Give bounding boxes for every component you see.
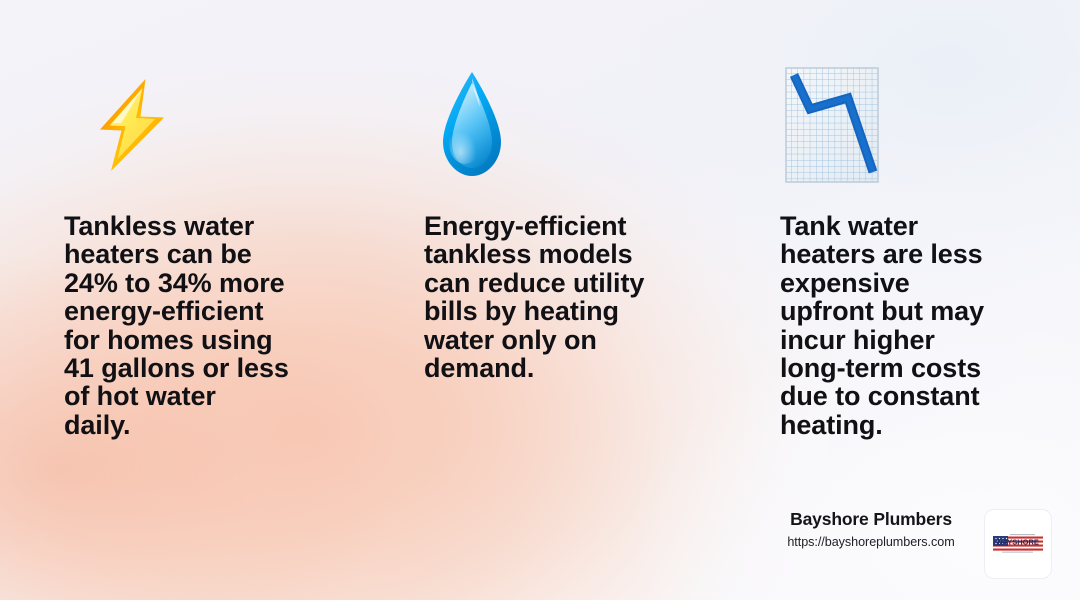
column-2-text: Energy-efficient tankless models can red… xyxy=(424,212,674,382)
chart-decreasing-icon xyxy=(785,67,879,183)
high-voltage-icon xyxy=(88,77,176,173)
column-3-text: Tank water heaters are less expensive up… xyxy=(780,212,1025,439)
logo-wordmark: BAYSHORE xyxy=(997,538,1039,547)
high-voltage-icon-slot xyxy=(88,62,176,187)
bayshore-flag-logo-icon: BAYSHORE xyxy=(993,531,1043,557)
brand-url[interactable]: https://bayshoreplumbers.com xyxy=(770,534,972,550)
droplet-icon xyxy=(438,69,506,181)
footer-text-block: Bayshore Plumbers https://bayshoreplumbe… xyxy=(770,508,972,550)
brand-logo-tile: BAYSHORE xyxy=(985,510,1051,578)
infographic-canvas: Tankless water heaters can be 24% to 34%… xyxy=(0,0,1080,600)
droplet-icon-slot xyxy=(438,62,506,187)
chart-decreasing-icon-slot xyxy=(785,62,879,187)
footer-branding: Bayshore Plumbers https://bayshoreplumbe… xyxy=(770,508,1060,588)
brand-name: Bayshore Plumbers xyxy=(770,508,972,530)
column-1-text: Tankless water heaters can be 24% to 34%… xyxy=(64,212,314,439)
